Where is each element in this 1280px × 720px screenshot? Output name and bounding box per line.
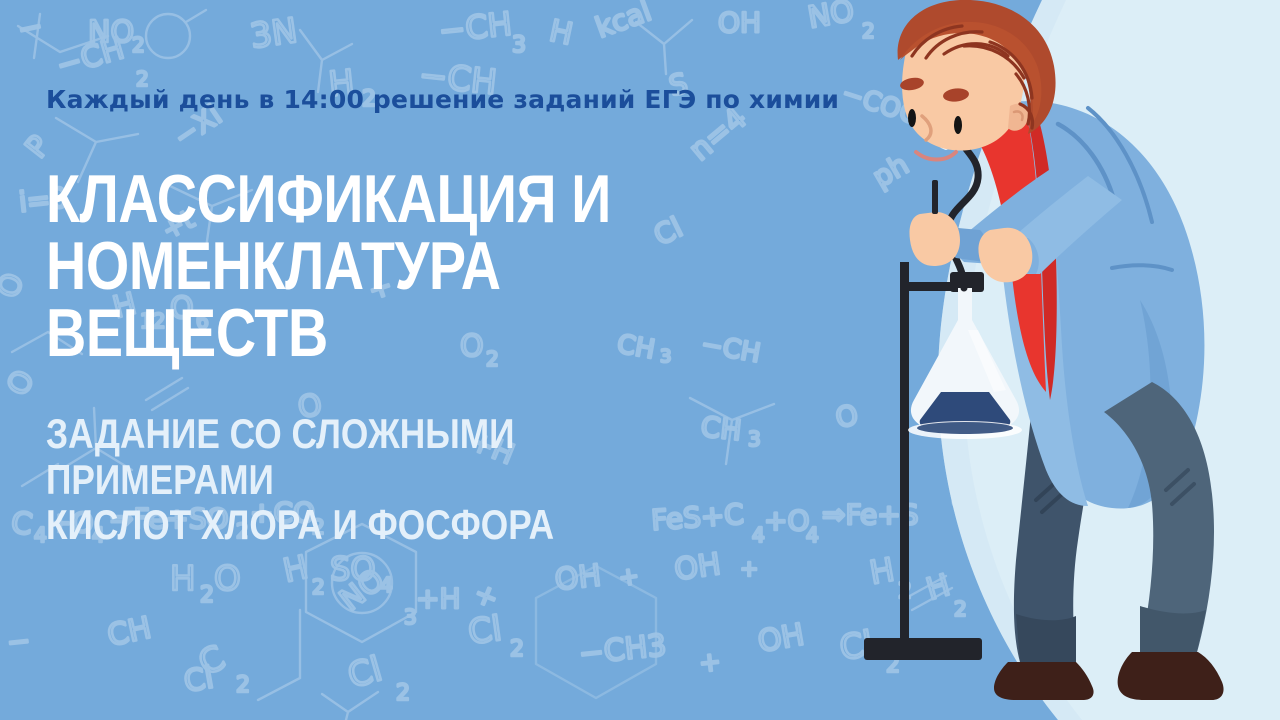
svg-text:Cl: Cl [343, 649, 386, 697]
erlenmeyer-flask [908, 288, 1022, 439]
svg-text:3N: 3N [248, 11, 300, 57]
svg-text:OH: OH [672, 547, 723, 588]
svg-text:3: 3 [512, 33, 526, 58]
svg-text:OH: OH [553, 558, 603, 598]
svg-text:H: H [170, 559, 196, 599]
kicker-line: Каждый день в 14:00 решение заданий ЕГЭ … [46, 86, 866, 114]
svg-text:−CH: −CH [437, 5, 514, 50]
svg-text:2: 2 [510, 637, 524, 662]
svg-text:2: 2 [396, 681, 410, 706]
eye-left [908, 109, 916, 127]
svg-text:O: O [0, 269, 32, 303]
svg-text:2: 2 [200, 583, 214, 608]
page-subtitle: ЗАДАНИЕ СО СЛОЖНЫМИ ПРИМЕРАМИ КИСЛОТ ХЛО… [46, 411, 735, 547]
svg-text:Cl: Cl [466, 609, 504, 653]
text-block: Каждый день в 14:00 решение заданий ЕГЭ … [46, 86, 866, 548]
hand-left [909, 212, 960, 266]
slide-canvas: − NO 2 3N −CH 3 H kcal OH NO 2 3N −CH 2 … [0, 0, 1280, 720]
svg-text:kcal: kcal [591, 0, 655, 45]
chemistry-student-illustration [840, 0, 1280, 720]
svg-text:2: 2 [312, 575, 325, 599]
svg-text:−CH: −CH [53, 31, 129, 84]
svg-text:−: − [5, 624, 32, 659]
svg-text:+: + [740, 557, 758, 582]
hand-right [978, 228, 1032, 283]
front-shoe [1118, 652, 1224, 700]
svg-text:+: + [698, 647, 723, 679]
page-title: КЛАССИФИКАЦИЯ И НОМЕНКЛАТУРА ВЕЩЕСТВ [46, 166, 718, 368]
svg-text:4: 4 [34, 523, 47, 547]
back-shoe [994, 662, 1094, 700]
svg-text:OH: OH [755, 617, 807, 659]
eye-right [954, 116, 962, 134]
svg-text:Cl: Cl [181, 660, 216, 700]
mouth [916, 152, 956, 160]
front-leg [1104, 382, 1214, 656]
svg-text:C: C [9, 505, 35, 543]
svg-text:+H: +H [416, 582, 461, 615]
svg-text:2: 2 [236, 673, 250, 698]
svg-text:H: H [546, 14, 575, 53]
svg-text:OH: OH [718, 6, 761, 39]
svg-text:O: O [0, 364, 42, 401]
svg-text:CH: CH [104, 611, 154, 654]
svg-text:2: 2 [132, 33, 145, 57]
svg-text:O: O [214, 559, 241, 599]
metal-rod [932, 180, 938, 214]
